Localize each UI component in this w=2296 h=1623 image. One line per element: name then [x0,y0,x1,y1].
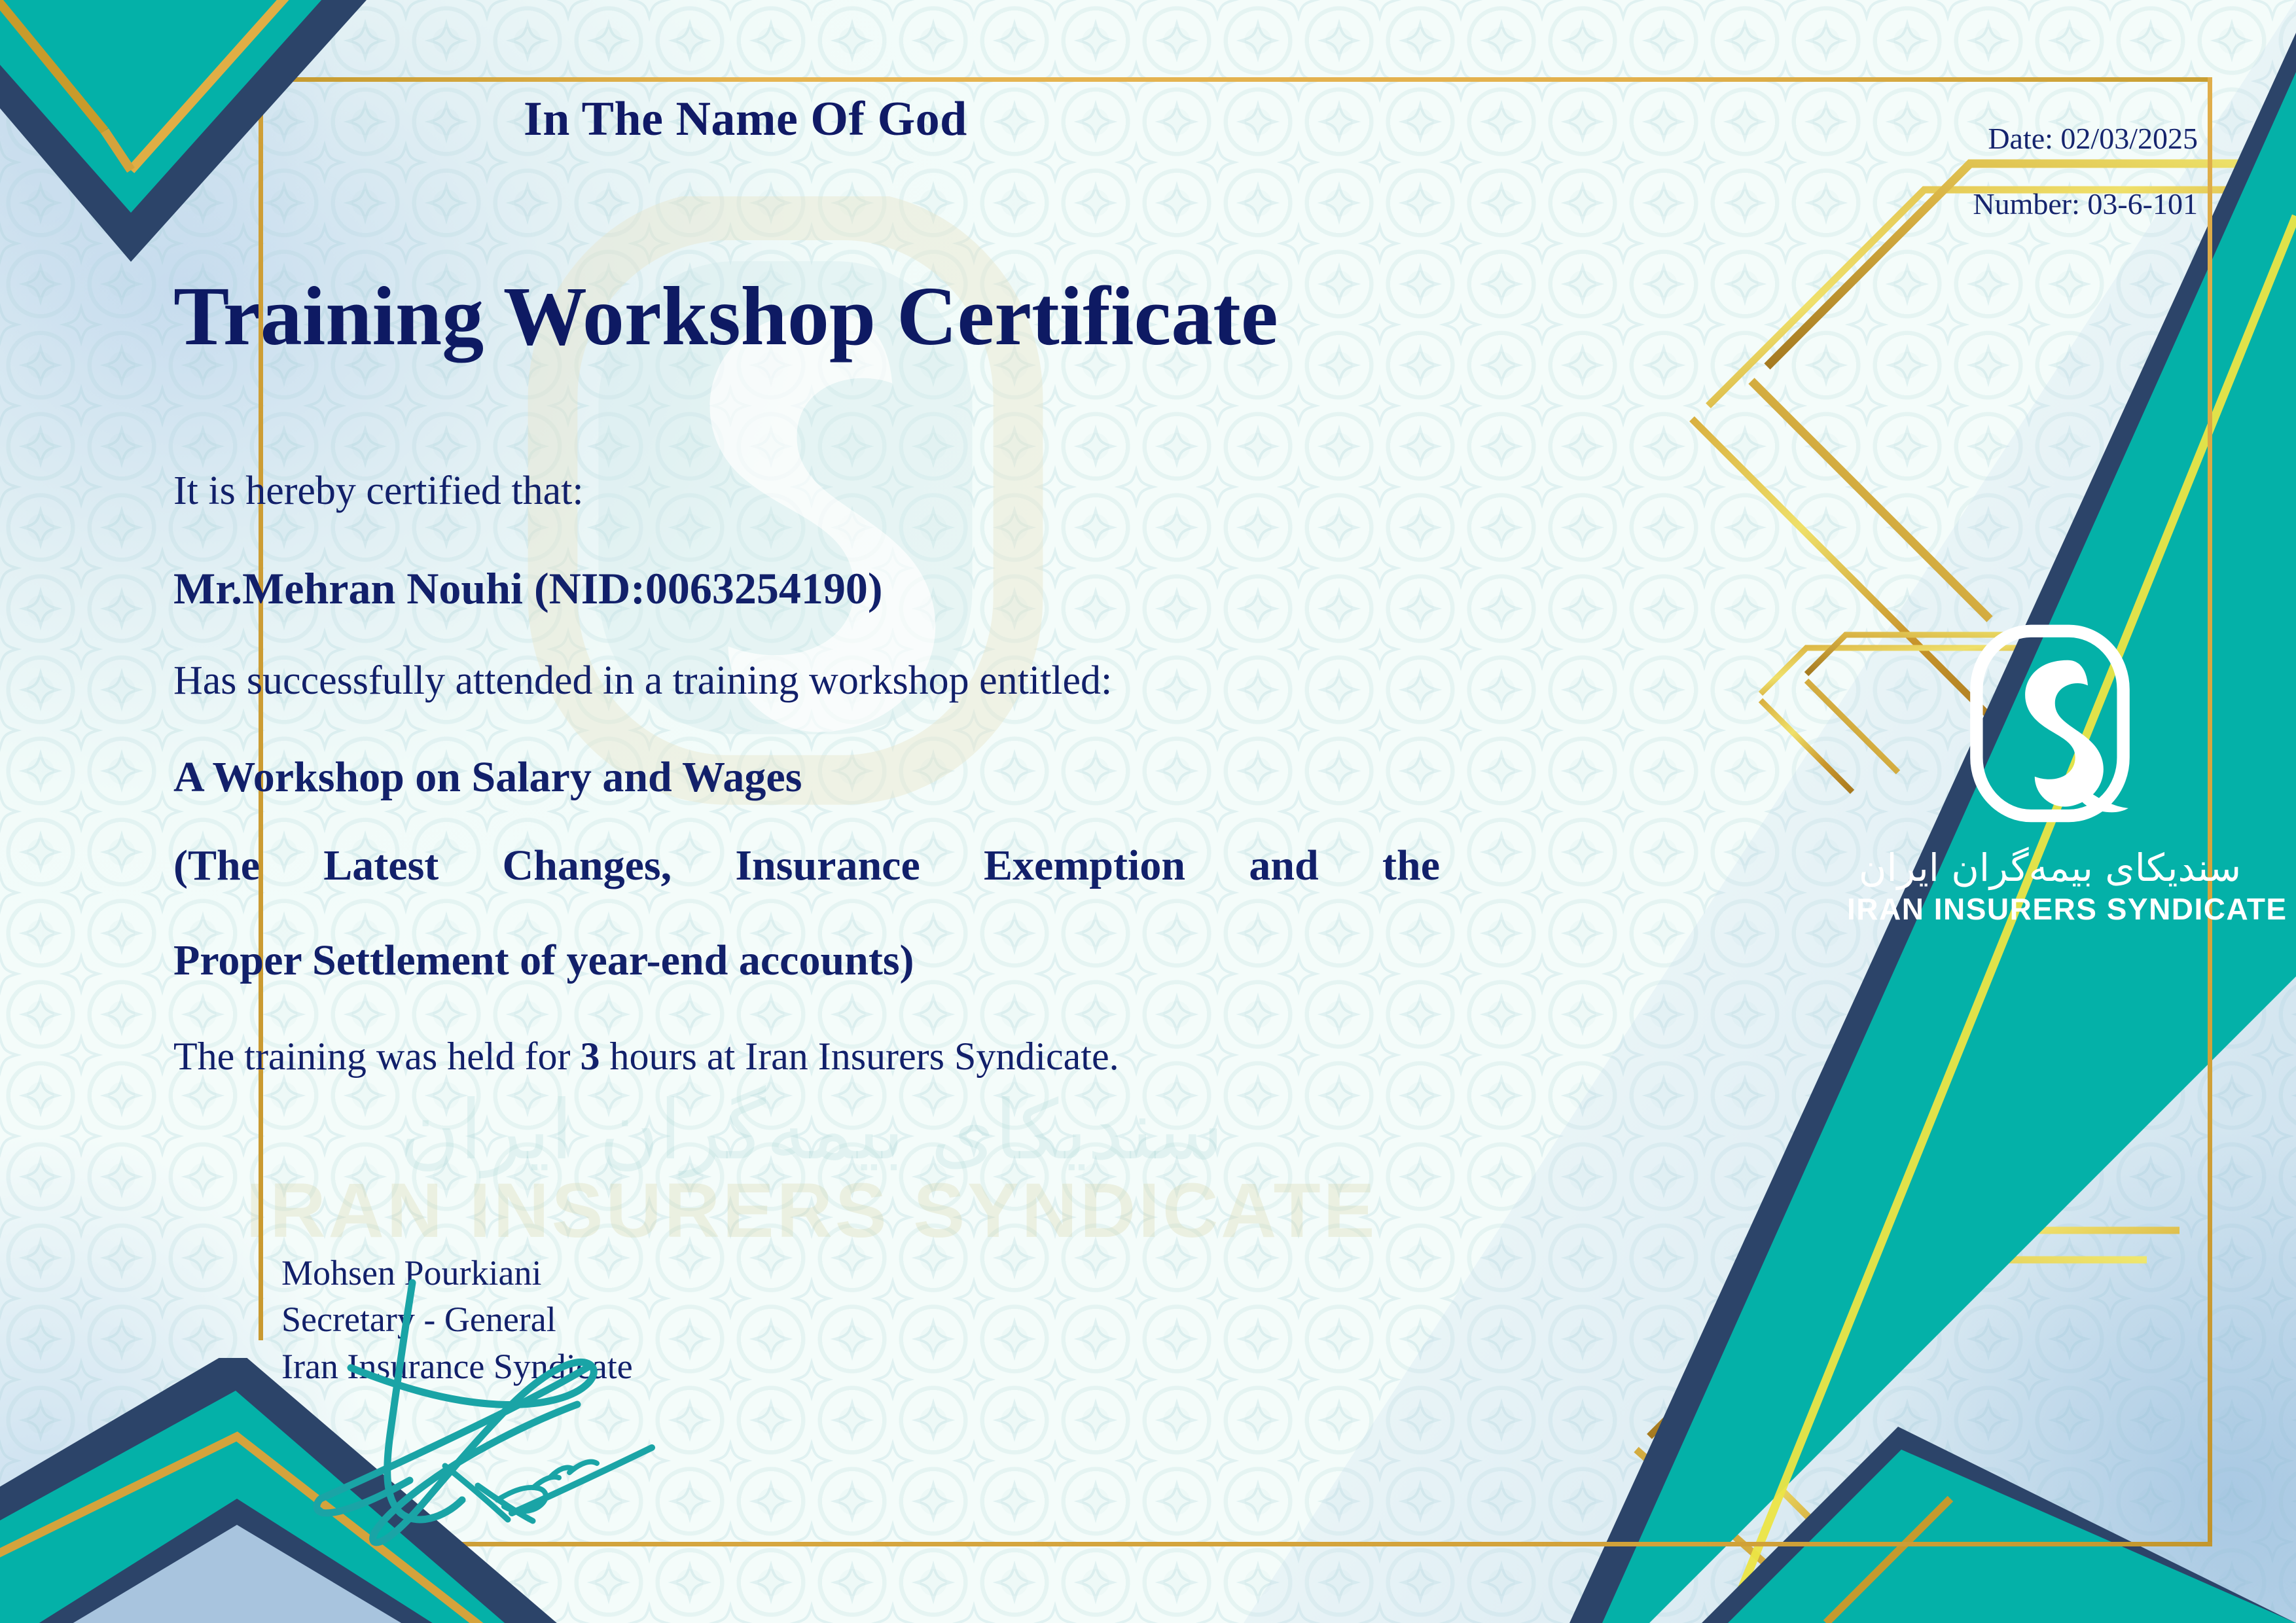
duration-suffix: hours at Iran Insurers Syndicate. [600,1035,1119,1078]
training-duration-line: The training was held for 3 hours at Ira… [173,1034,1119,1079]
workshop-title-line-2: (The Latest Changes, Insurance Exemption… [173,841,1440,891]
syndicate-logo: سندیکای بیمه‌گران ایران IRAN INSURERS SY… [1847,623,2253,980]
duration-prefix: The training was held for [173,1035,580,1078]
duration-hours-value: 3 [580,1035,600,1078]
syndicate-logo-mark [1955,623,2145,839]
syndicate-logo-name-fa: سندیکای بیمه‌گران ایران [1847,846,2253,890]
signatory-role: Secretary - General [281,1296,633,1343]
certified-intro-line: It is hereby certified that: [173,468,584,514]
attended-intro-line: Has successfully attended in a training … [173,658,1112,704]
page-title: Training Workshop Certificate [173,268,1278,365]
certificate-number: Number: 03-6-101 [1973,187,2198,221]
signatory-block: Mohsen Pourkiani Secretary - General Ira… [281,1250,633,1390]
recipient-name: Mr.Mehran Nouhi (NID:0063254190) [173,563,883,615]
signatory-organization: Iran Insurance Syndicate [281,1344,633,1390]
workshop-title-line-1: A Workshop on Salary and Wages [173,753,802,802]
issue-date: Date: 02/03/2025 [1988,121,2198,156]
corner-chevron-bottom-left [0,1358,583,1623]
certificate-page: سندیکای بیمه‌گران ایران IRAN INSURERS SY… [0,0,2296,1623]
signatory-name: Mohsen Pourkiani [281,1250,633,1296]
syndicate-logo-name-en: IRAN INSURERS SYNDICATE [1847,891,2253,927]
workshop-title-line-3: Proper Settlement of year-end accounts) [173,936,914,986]
frame-line-top [259,77,2212,82]
invocation-heading: In The Name Of God [524,92,967,147]
